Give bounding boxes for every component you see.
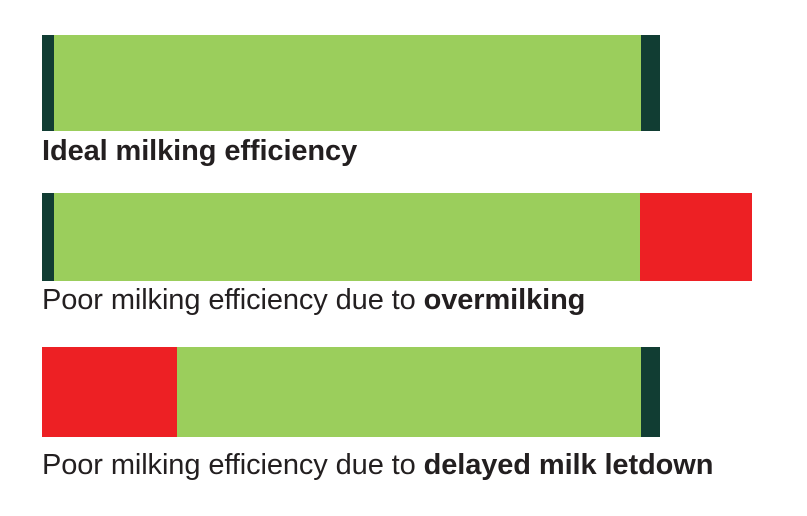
segment-milk-flow [54,193,640,281]
caption-overmilking: Poor milking efficiency due to overmilki… [42,285,585,315]
segment-stimulation [42,193,54,281]
caption-ideal: Ideal milking efficiency [42,136,357,166]
caption-delayed-bold: delayed milk letdown [424,449,714,481]
caption-delayed-letdown: Poor milking efficiency due to delayed m… [42,450,713,480]
segment-delayed-letdown [42,347,177,437]
segment-machine-strip [641,35,660,131]
caption-ideal-bold: Ideal milking efficiency [42,135,357,167]
segment-overmilking [640,193,752,281]
bar-overmilking [42,193,752,281]
caption-delayed-regular: Poor milking efficiency due to [42,449,424,481]
segment-milk-flow [177,347,641,437]
bar-delayed-letdown [42,347,660,437]
caption-overmilking-bold: overmilking [424,284,586,316]
milking-efficiency-diagram: Ideal milking efficiency Poor milking ef… [0,0,807,516]
caption-overmilking-regular: Poor milking efficiency due to [42,284,424,316]
bar-ideal [42,35,660,131]
segment-machine-strip [641,347,660,437]
segment-milk-flow [54,35,641,131]
segment-stimulation [42,35,54,131]
